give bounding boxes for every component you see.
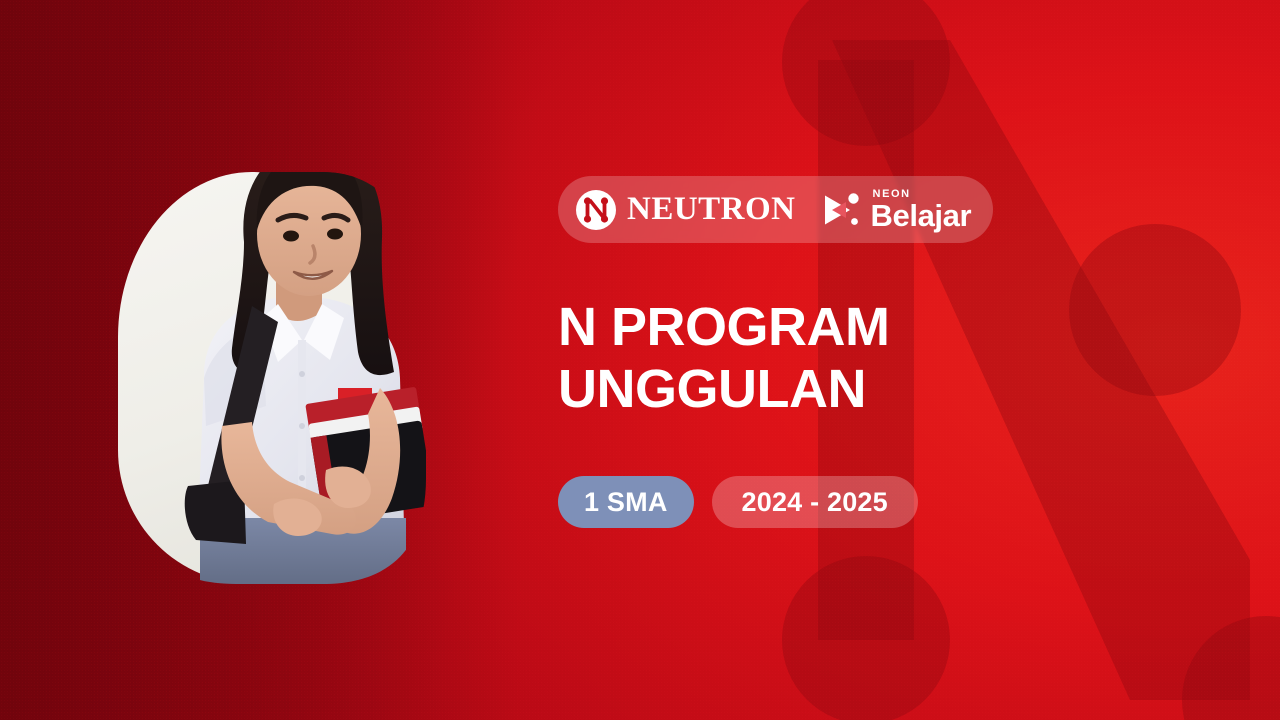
headline-line-1: N PROGRAM — [558, 297, 988, 359]
content-column: NEUTRON NEON Belajar — [558, 176, 1078, 528]
promo-banner: NEUTRON NEON Belajar — [0, 0, 1280, 720]
belajar-text: Belajar — [871, 201, 972, 230]
brand-logo-pill[interactable]: NEUTRON NEON Belajar — [558, 176, 993, 243]
badge-row: 1 SMA 2024 - 2025 — [558, 476, 1078, 528]
student-photo — [118, 172, 418, 584]
neutron-wordmark: NEUTRON — [627, 193, 796, 226]
neutron-n-circle-icon — [576, 190, 616, 230]
neon-belajar-wordmark: NEON Belajar — [871, 189, 972, 230]
student-illustration — [126, 126, 456, 588]
headline-line-2: UNGGULAN — [558, 359, 988, 421]
year-badge[interactable]: 2024 - 2025 — [712, 476, 918, 528]
page-title: N PROGRAM UNGGULAN — [558, 297, 988, 420]
neon-belajar-brand[interactable]: NEON Belajar — [822, 189, 972, 230]
neutron-brand[interactable]: NEUTRON — [576, 190, 796, 230]
neon-play-arrow-icon — [822, 191, 862, 229]
grade-badge[interactable]: 1 SMA — [558, 476, 694, 528]
